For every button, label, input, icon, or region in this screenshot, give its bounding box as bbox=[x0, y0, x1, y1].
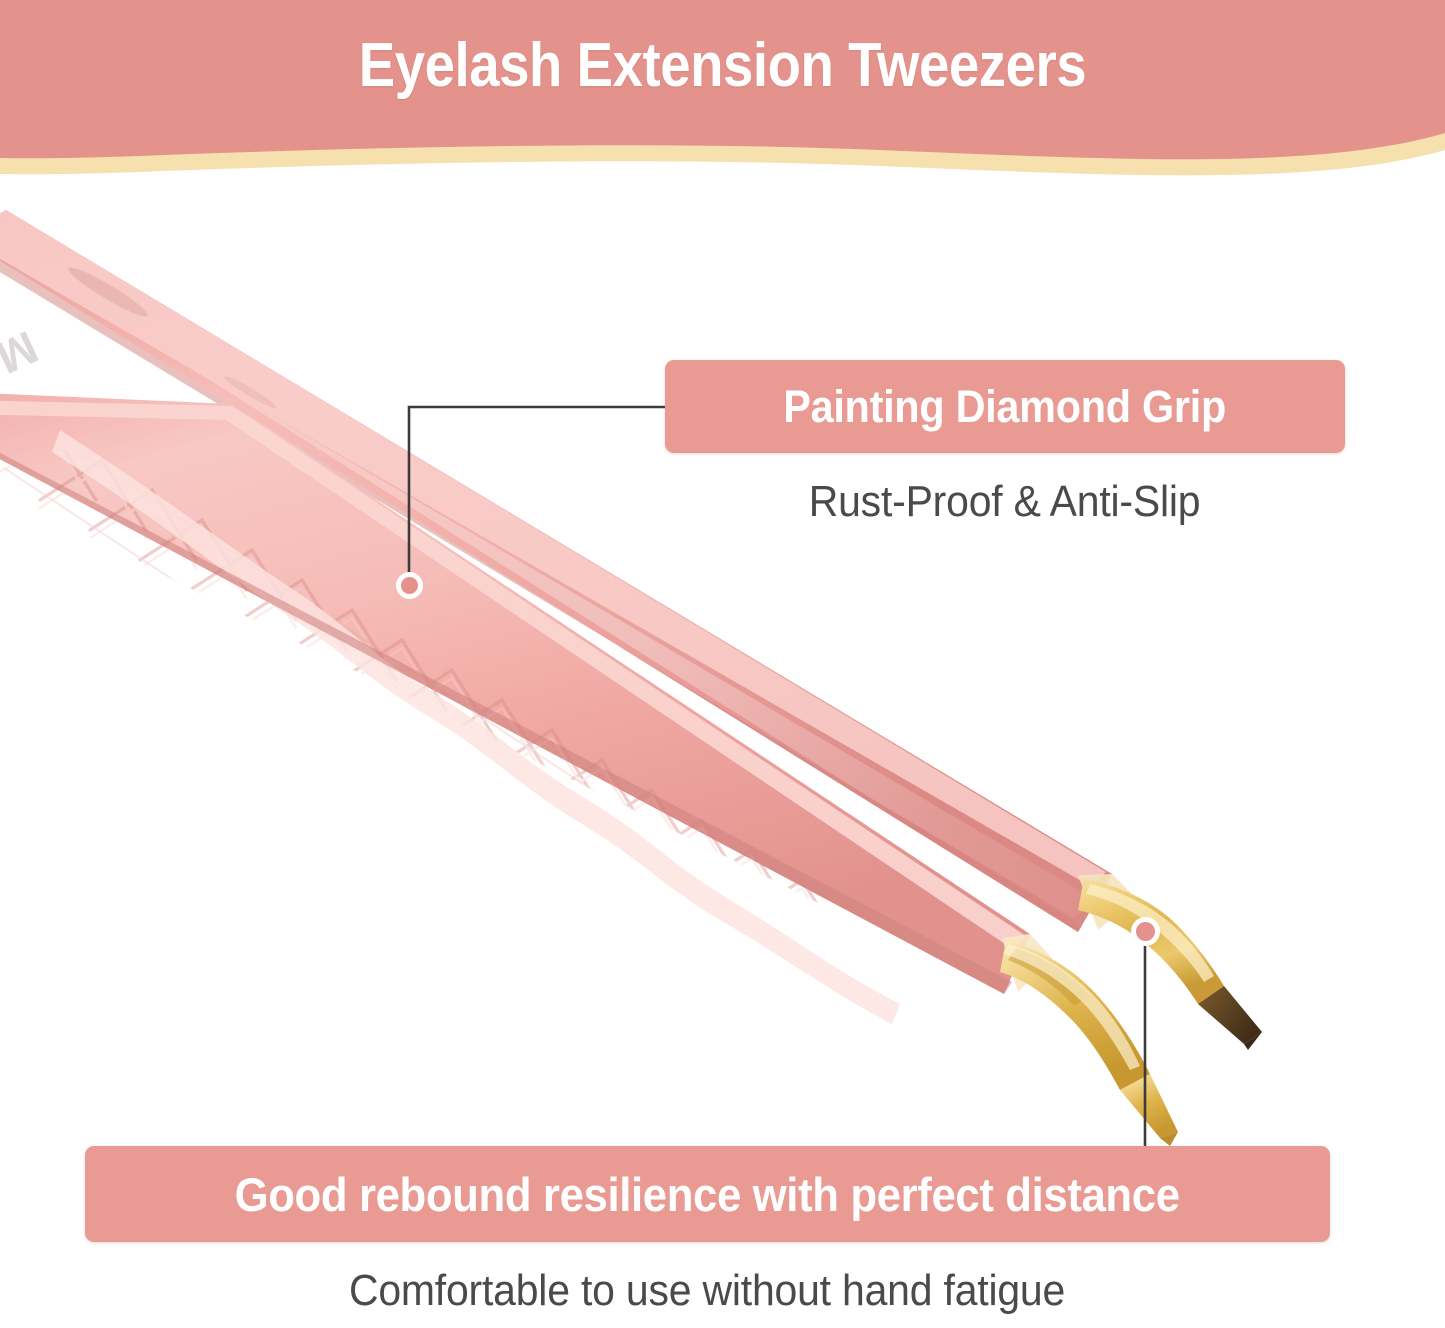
grip-marker-dot[interactable] bbox=[396, 572, 423, 599]
svg-text:Ms.W: Ms.W bbox=[0, 321, 46, 419]
upper-tip-point bbox=[1198, 986, 1262, 1044]
callout-leader-lines bbox=[0, 0, 1445, 1328]
leader-line-grip bbox=[409, 407, 668, 578]
lower-tip-point-end bbox=[1160, 1132, 1178, 1146]
upper-arm-bottom-shade bbox=[0, 236, 1082, 932]
upper-tip-collar bbox=[1078, 874, 1136, 930]
upper-arm-body bbox=[0, 210, 1112, 932]
page-title: Eyelash Extension Tweezers bbox=[87, 30, 1359, 101]
callout-label-rebound[interactable]: Good rebound resilience with perfect dis… bbox=[85, 1146, 1330, 1242]
upper-arm-top-highlight bbox=[0, 210, 1106, 886]
callout-label-rebound-text: Good rebound resilience with perfect dis… bbox=[235, 1167, 1180, 1222]
callout-subcaption-rebound: Comfortable to use without hand fatigue bbox=[85, 1266, 1330, 1316]
tip-marker-dot[interactable] bbox=[1131, 917, 1160, 946]
lower-tip-collar bbox=[1002, 934, 1052, 992]
upper-tip-point-taper bbox=[1244, 1032, 1262, 1050]
tweezer-lower-gold-tip bbox=[1000, 934, 1178, 1146]
header-band: Eyelash Extension Tweezers bbox=[0, 0, 1445, 190]
lower-tip-gold-shank bbox=[1000, 940, 1150, 1090]
product-image: Ms.W bbox=[0, 0, 1445, 1328]
tweezer-upper-arm: Ms.W bbox=[0, 210, 1112, 932]
callout-subcaption-grip: Rust-Proof & Anti-Slip bbox=[665, 477, 1345, 527]
callout-subcaption-grip-text: Rust-Proof & Anti-Slip bbox=[809, 477, 1201, 527]
lower-tip-gold-highlight bbox=[1004, 944, 1140, 1070]
brand-engraving: Ms.W bbox=[0, 321, 46, 419]
product-infographic: Eyelash Extension Tweezers bbox=[0, 0, 1445, 1328]
callout-label-grip[interactable]: Painting Diamond Grip bbox=[665, 360, 1345, 453]
lower-tip-point bbox=[1120, 1074, 1178, 1138]
callout-label-grip-text: Painting Diamond Grip bbox=[784, 381, 1227, 433]
callout-subcaption-rebound-text: Comfortable to use without hand fatigue bbox=[349, 1266, 1065, 1316]
tweezer-upper-gold-tip bbox=[1078, 874, 1262, 1050]
upper-arm-scuff bbox=[65, 262, 151, 321]
upper-arm-specular bbox=[0, 250, 1096, 918]
lower-tip-brushed-patch bbox=[1008, 948, 1090, 1006]
upper-arm-scuff-2 bbox=[222, 373, 278, 411]
